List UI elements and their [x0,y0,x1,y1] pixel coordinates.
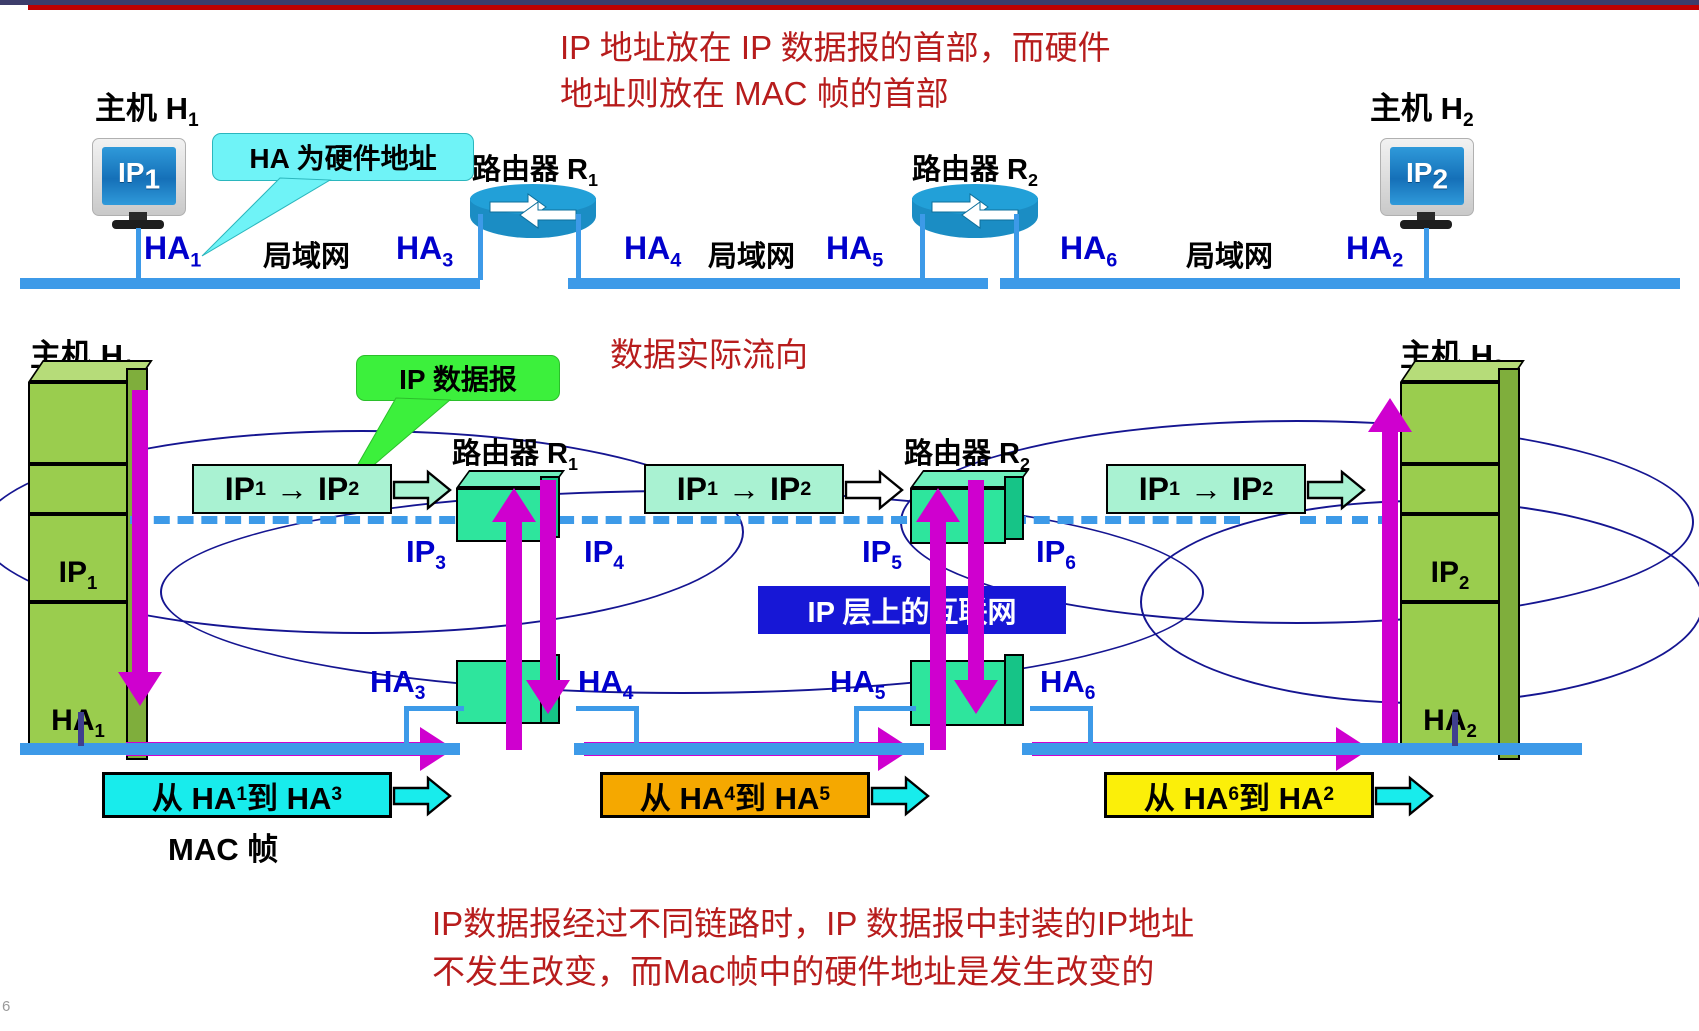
ip-internet-badge: IP 层上的互联网 [758,586,1066,634]
top-ha-label-4: HA4 [624,230,681,272]
mid-lan-bar-3 [1022,743,1582,755]
top-drop-r2-left [920,214,925,280]
flow-arrowhead-h1-down [118,672,162,706]
flow-arrow-r1-up [506,520,522,750]
top-ha4-sub: 4 [670,249,681,271]
dg2-arrow: → [718,471,770,508]
ip4-sub: 4 [613,553,624,574]
mid-elbow-r2-left-h [854,706,916,711]
host-h2-stack: IP2 HA2 [1400,360,1530,760]
hollow-arrow-2-icon [844,468,906,512]
mac3-sub-a: 6 [1228,784,1239,806]
mac-frame-arrow-2-icon [870,774,932,818]
cube-right-face [1004,476,1024,540]
top-ha2-sub: 2 [1392,249,1403,271]
ha6-prefix: HA [1040,664,1085,699]
dg1-dst-sub: 2 [348,478,359,501]
top-ha1-prefix: HA [144,230,190,266]
top-lan-bar-3 [1000,278,1680,289]
stack-layer-1 [1400,382,1500,464]
mac3-text-a: 从 HA [1144,773,1228,818]
cube-right-face [1004,654,1024,726]
top-host1-label-sub: 1 [188,110,199,131]
top-ha-label-3: HA3 [396,230,453,272]
mid-drop-h2 [1452,712,1458,746]
ip3-sub: 3 [435,553,446,574]
slide-canvas: IP 地址放在 IP 数据报的首部，而硬件 地址则放在 MAC 帧的首部 主机 … [0,0,1699,1031]
ha4-prefix: HA [578,664,623,699]
top-ha-label-6: HA6 [1060,230,1117,272]
flow-arrow-h1-down [132,390,148,680]
flow-arrowhead-r2-down [954,680,998,714]
dg1-dst-prefix: IP [318,471,348,508]
ha6-sub: 6 [1085,683,1096,704]
stack-layer-mac: HA2 [1400,602,1500,750]
stack-ip-sub: 1 [87,572,97,593]
dg3-dst-sub: 2 [1262,478,1273,501]
ip-internet-badge-text: IP 层上的互联网 [808,589,1017,631]
mac1-text-a: 从 HA [152,773,236,818]
flow-arrowhead-h2-up [1368,398,1412,432]
top-lan-label-3: 局域网 [1186,233,1273,275]
mid-router2-ip5-label: IP5 [862,534,902,575]
top-drop-r2-right [1014,214,1019,280]
mid-elbow-r1-left-v [404,706,409,746]
top-lan-label-2: 局域网 [708,233,795,275]
ha4-sub: 4 [623,683,634,704]
hollow-arrow-1-icon [392,468,454,512]
stack-layer-2 [28,464,128,514]
ha3-prefix: HA [370,664,415,699]
top-ha3-prefix: HA [396,230,442,266]
top-ha2-prefix: HA [1346,230,1392,266]
host-h2-monitor-icon: IP2 [1380,138,1472,226]
top-host2-label-sub: 2 [1463,110,1474,131]
ip-datagram-box-2: IP1 → IP2 [644,464,844,514]
dg3-arrow: → [1180,471,1232,508]
mac-frame-label-3: 从 HA6 到 HA2 [1104,772,1374,818]
mid-elbow-r2-right-v [1088,706,1093,746]
mid-router2-ha5-label: HA5 [830,664,885,705]
monitor-ip-sub: 1 [144,163,160,194]
mid-elbow-r2-right-h [1030,706,1092,711]
note-flow-label: 数据实际流向 [610,333,808,377]
mid-lan-bar-1 [20,743,460,755]
stack-right-face [1498,368,1520,760]
host-h1-monitor-icon: IP1 [92,138,184,226]
mac3-text-b: 到 HA [1239,773,1323,818]
stack-ip-prefix: IP [1431,556,1459,589]
stack-ha-prefix: HA [1423,704,1466,737]
mid-router1-label-text: 路由器 R [452,438,568,470]
mid-elbow-r2-left-v [854,706,859,746]
dg2-dst-prefix: IP [770,471,800,508]
stack-ha-prefix: HA [51,704,94,737]
top-lan-label-1: 局域网 [263,233,350,275]
ha5-prefix: HA [830,664,875,699]
ip5-sub: 5 [891,553,902,574]
hollow-arrow-3-icon [1306,468,1368,512]
stack-layer-1 [28,382,128,464]
top-host2-label: 主机 H2 [1370,83,1474,132]
top-host1-label-text: 主机 H [95,91,188,126]
top-ha5-sub: 5 [872,249,883,271]
dg3-dst-prefix: IP [1232,471,1262,508]
stack-ip-label: IP2 [1402,556,1498,594]
stack-ip-prefix: IP [59,556,87,589]
top-router2-label-text: 路由器 R [912,154,1028,186]
dg3-src-prefix: IP [1139,471,1169,508]
ip-layer-dashed-line [130,516,1240,524]
router-arrows-icon [926,188,1024,234]
mac1-text-b: 到 HA [247,773,331,818]
top-ha-label-1: HA1 [144,230,201,272]
monitor-ip-prefix: IP [118,157,144,188]
dg2-src-sub: 1 [707,478,718,501]
mac-frame-label-2: 从 HA4 到 HA5 [600,772,870,818]
stack-layer-ip: IP2 [1400,514,1500,602]
mac1-sub-b: 3 [331,784,342,806]
top-router1-label-text: 路由器 R [472,154,588,186]
top-ha6-sub: 6 [1106,249,1117,271]
ip6-sub: 6 [1065,553,1076,574]
mid-drop-h1 [78,712,84,746]
dg2-dst-sub: 2 [800,478,811,501]
mid-lan-bar-2 [574,743,924,755]
flow-arrow-r2-down [968,480,984,688]
dg1-arrow: → [266,471,318,508]
stack-layer-ip: IP1 [28,514,128,602]
mac2-sub-a: 4 [724,784,735,806]
note-top-line2: 地址则放在 MAC 帧的首部 [560,72,949,116]
mac2-sub-b: 5 [819,784,830,806]
top-ha-label-2: HA2 [1346,230,1403,272]
mac-frame-caption: MAC 帧 [168,824,278,869]
top-drop-h2 [1424,228,1429,280]
mid-router1-ip4-label: IP4 [584,534,624,575]
top-ha1-sub: 1 [190,249,201,271]
mac2-text-a: 从 HA [640,773,724,818]
top-ha6-prefix: HA [1060,230,1106,266]
stack-ip-label: IP1 [30,556,126,594]
top-host1-label: 主机 H1 [95,83,199,132]
note-bottom-line2: 不发生改变，而Mac帧中的硬件地址是发生改变的 [432,950,1154,994]
mid-router1-ip3-label: IP3 [406,534,446,575]
note-bottom-line1: IP数据报经过不同链路时，IP 数据报中封装的IP地址 [432,902,1194,946]
page-number: 6 [2,998,10,1015]
mid-elbow-r1-right-h [576,706,638,711]
flow-arrowhead-r1-up [492,488,536,522]
top-drop-h1 [136,228,141,280]
monitor-ip-text: IP2 [1406,157,1448,196]
mid-router2-ip6-label: IP6 [1036,534,1076,575]
mid-elbow-r1-left-h [404,706,464,711]
ip5-prefix: IP [862,534,891,569]
monitor-ip-sub: 2 [1432,163,1448,194]
flow-arrowhead-r2-up [916,488,960,522]
mac3-sub-b: 2 [1323,784,1334,806]
flow-arrow-r2-up [930,520,946,750]
stack-ip-sub: 2 [1459,572,1469,593]
mid-router1-ha3-label: HA3 [370,664,425,705]
ha3-sub: 3 [415,683,426,704]
ip-datagram-box-1: IP1 → IP2 [192,464,392,514]
mid-elbow-r1-right-v [634,706,639,746]
monitor-ip-text: IP1 [118,157,160,196]
mac1-sub-a: 1 [236,784,247,806]
flow-arrowhead-r1-down [526,680,570,714]
top-ha3-sub: 3 [442,249,453,271]
stack-ha-label: HA2 [1402,704,1498,742]
stack-ha-sub: 2 [1467,720,1477,741]
monitor-screen: IP2 [1390,147,1464,205]
mac-frame-arrow-3-icon [1374,774,1436,818]
monitor-bezel: IP2 [1380,138,1474,216]
dg2-src-prefix: IP [677,471,707,508]
dg3-src-sub: 1 [1169,478,1180,501]
top-lan-bar-2 [568,278,988,289]
stack-ha-sub: 1 [95,720,105,741]
mac-frame-arrow-1-icon [392,774,454,818]
flow-arrow-h2-up [1382,430,1398,750]
mid-router2-label-text: 路由器 R [904,438,1020,470]
monitor-bezel: IP1 [92,138,186,216]
top-ha5-prefix: HA [826,230,872,266]
top-host2-label-text: 主机 H [1370,91,1463,126]
top-ha4-prefix: HA [624,230,670,266]
router-arrows-icon [484,188,582,234]
monitor-ip-prefix: IP [1406,157,1432,188]
ip6-prefix: IP [1036,534,1065,569]
note-top-line1: IP 地址放在 IP 数据报的首部，而硬件 [560,26,1111,70]
ip4-prefix: IP [584,534,613,569]
monitor-screen: IP1 [102,147,176,205]
mid-router1-label: 路由器 R1 [452,430,578,475]
top-lan-bar-1 [20,278,480,289]
top-divider-red [28,5,1699,10]
mid-router1-ha4-label: HA4 [578,664,633,705]
mac-frame-label-1: 从 HA1 到 HA3 [102,772,392,818]
ha5-sub: 5 [875,683,886,704]
mid-router2-label: 路由器 R2 [904,430,1030,475]
top-ha-label-5: HA5 [826,230,883,272]
mid-router2-ha6-label: HA6 [1040,664,1095,705]
router-r2-icon [912,184,1038,246]
mac2-text-b: 到 HA [735,773,819,818]
top-drop-r1-right [576,214,581,280]
top-drop-r1-left [478,214,483,280]
ip3-prefix: IP [406,534,435,569]
stack-layer-2 [1400,464,1500,514]
dg1-src-sub: 1 [255,478,266,501]
ip-datagram-box-3: IP1 → IP2 [1106,464,1306,514]
flow-arrow-r1-down [540,480,556,688]
dg1-src-prefix: IP [225,471,255,508]
